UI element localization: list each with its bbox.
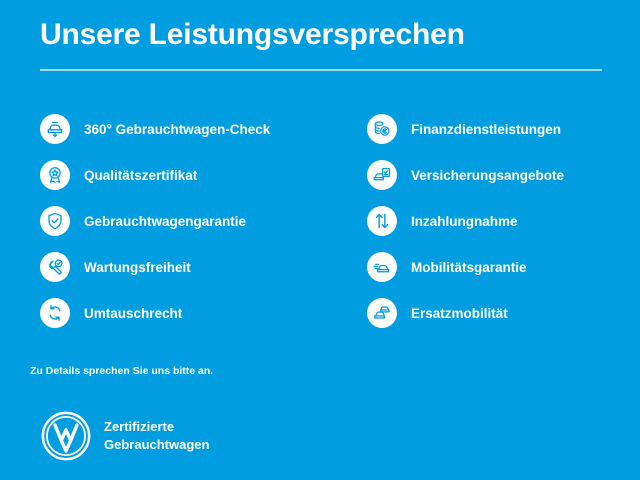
brand-line-2: Gebrauchtwagen — [104, 437, 209, 452]
benefit-label: Wartungsfreiheit — [84, 260, 191, 275]
footnote-text: Zu Details sprechen Sie uns bitte an. — [30, 365, 213, 377]
benefit-label: Versicherungsangebote — [411, 168, 564, 183]
benefit-label: Inzahlungnahme — [411, 214, 518, 229]
exchange-arrows-icon — [40, 298, 70, 328]
up-down-arrows-icon — [367, 206, 397, 236]
benefit-label: Mobilitätsgarantie — [411, 260, 527, 275]
benefit-item-replacement-mobility: Ersatzmobilität — [367, 290, 640, 336]
benefit-label: Umtauschrecht — [84, 306, 182, 321]
benefit-item-financial-services: Finanzdienstleistungen — [367, 106, 640, 152]
brand-lockup: Zertifizierte Gebrauchtwagen — [40, 410, 209, 462]
benefit-item-quality-certificate: Qualitätszertifikat — [40, 152, 320, 198]
benefits-left-column: 360° Gebrauchtwagen-Check Qualitätszerti… — [0, 106, 320, 336]
benefit-label: Finanzdienstleistungen — [411, 122, 561, 137]
brand-line-1: Zertifizierte — [104, 419, 174, 434]
brand-text: Zertifizierte Gebrauchtwagen — [104, 418, 209, 453]
benefit-item-maintenance-free: Wartungsfreiheit — [40, 244, 320, 290]
benefits-right-column: Finanzdienstleistungen Versicheru — [320, 106, 640, 336]
benefit-item-360-check: 360° Gebrauchtwagen-Check — [40, 106, 320, 152]
award-rosette-icon — [40, 160, 70, 190]
benefit-item-mobility-guarantee: Mobilitätsgarantie — [367, 244, 640, 290]
benefit-item-trade-in: Inzahlungnahme — [367, 198, 640, 244]
shield-check-icon — [40, 206, 70, 236]
benefits-slide: Unsere Leistungsversprechen — [0, 0, 640, 480]
car-inspection-icon — [40, 114, 70, 144]
title-divider — [40, 69, 602, 71]
volkswagen-logo — [40, 410, 92, 462]
page-title: Unsere Leistungsversprechen — [40, 18, 465, 52]
car-document-icon — [367, 160, 397, 190]
two-cars-icon — [367, 298, 397, 328]
benefit-item-warranty: Gebrauchtwagengarantie — [40, 198, 320, 244]
coins-euro-icon — [367, 114, 397, 144]
benefit-label: Gebrauchtwagengarantie — [84, 214, 246, 229]
benefit-item-insurance-offers: Versicherungsangebote — [367, 152, 640, 198]
car-motion-icon — [367, 252, 397, 282]
benefit-item-exchange-right: Umtauschrecht — [40, 290, 320, 336]
benefit-label: Qualitätszertifikat — [84, 168, 197, 183]
benefit-label: 360° Gebrauchtwagen-Check — [84, 122, 270, 137]
wrench-check-icon — [40, 252, 70, 282]
benefits-columns: 360° Gebrauchtwagen-Check Qualitätszerti… — [0, 106, 640, 336]
benefit-label: Ersatzmobilität — [411, 306, 508, 321]
